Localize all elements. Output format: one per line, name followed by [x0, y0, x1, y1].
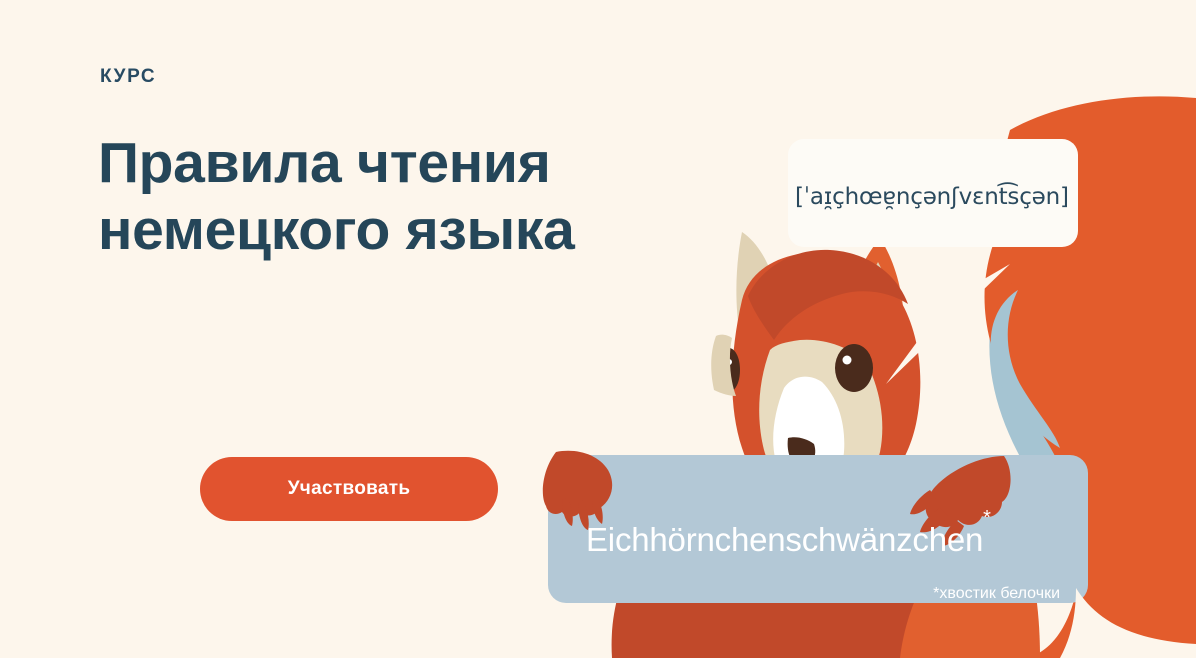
hero-copy: КУРС Правила чтения немецкого языка Учас…: [0, 0, 660, 658]
sign-word: Eichhörnchenschwänzchen*: [586, 521, 991, 559]
squirrel-eye-left: [723, 348, 740, 393]
squirrel-ear-right: [846, 238, 904, 340]
squirrel-cheek-tuft: [711, 335, 736, 396]
hero-banner: КУРС Правила чтения немецкого языка Учас…: [0, 0, 1196, 658]
sign-word-text: Eichhörnchenschwänzchen: [586, 521, 983, 558]
speech-bubble-tail: [886, 264, 1010, 384]
squirrel-eye-right-highlight: [843, 356, 852, 365]
sign-word-asterisk: *: [983, 507, 991, 529]
ipa-transcription: [ˈaɪ̯çhœɐ̯nçənʃvɛnt͡sçən]: [795, 184, 1085, 210]
squirrel-paw-right: [926, 456, 1011, 527]
squirrel-head-fur-highlight: [748, 250, 908, 340]
bottom-right-cream-wedge: [1060, 588, 1196, 658]
squirrel-head: [732, 252, 920, 507]
squirrel-chin: [766, 440, 874, 513]
squirrel-eye-left-highlight: [726, 359, 732, 365]
sign-footnote: *хвостик белочки: [700, 585, 1060, 603]
squirrel-ear-left: [736, 232, 778, 336]
squirrel-face-mask: [759, 340, 882, 501]
squirrel-eye-right: [835, 344, 873, 392]
squirrel-ear-right-inner: [860, 262, 894, 336]
page-title: Правила чтения немецкого языка: [98, 130, 658, 263]
tail-highlight-crescent: [991, 290, 1060, 448]
squirrel-snout: [773, 377, 844, 493]
eyebrow-label: КУРС: [100, 66, 156, 88]
participate-button[interactable]: Участвовать: [200, 457, 498, 521]
squirrel-mouth: [788, 437, 816, 466]
